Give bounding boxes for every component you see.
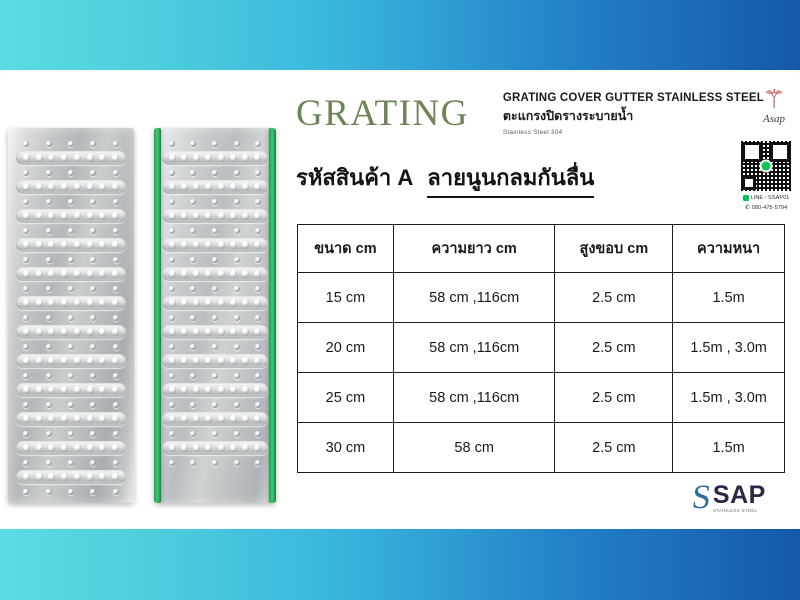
product-photo-group: [8, 128, 290, 513]
table-header-row: ขนาด cm ความยาว cm สูงขอบ cm ความหนา: [298, 225, 785, 273]
table-row: 15 cm 58 cm ,116cm 2.5 cm 1.5m: [298, 273, 785, 323]
product-image-green-frame[interactable]: [154, 128, 276, 503]
cell-size: 25 cm: [298, 373, 394, 423]
phone-contact-row[interactable]: ✆ 080-475-5794: [745, 204, 787, 211]
cell-thickness: 1.5m: [673, 423, 785, 473]
corporate-script-name: Asap: [763, 113, 785, 125]
line-app-icon: [743, 195, 749, 201]
sap-logo-text-group: SAP STAINLESS STEEL: [713, 484, 766, 513]
product-image-plain[interactable]: [8, 128, 134, 503]
qr-contact-block: LINE : SSAP01 ✆ 080-475-5794: [737, 140, 795, 211]
page-header: GRATING GRATING COVER GUTTER STAINLESS S…: [296, 84, 756, 142]
qr-code-icon[interactable]: [740, 140, 792, 192]
table-header-size: ขนาด cm: [298, 225, 394, 273]
sap-footer-logo: S SAP STAINLESS STEEL: [692, 484, 766, 513]
cell-thickness: 1.5m , 3.0m: [673, 373, 785, 423]
cell-thickness: 1.5m , 3.0m: [673, 323, 785, 373]
grating-pattern: [8, 128, 134, 503]
product-code-line: รหัสสินค้า A ลายนูนกลมกันลื่น: [296, 160, 594, 198]
cell-edge-height: 2.5 cm: [555, 423, 673, 473]
table-header-edge-height: สูงขอบ cm: [555, 225, 673, 273]
sap-logo-tagline: STAINLESS STEEL: [713, 508, 766, 513]
cell-edge-height: 2.5 cm: [555, 323, 673, 373]
sap-logo-word: SAP: [713, 484, 766, 508]
qr-finder-bottom-left: [742, 176, 756, 190]
cell-length: 58 cm: [393, 423, 555, 473]
grating-pattern: [154, 128, 276, 503]
header-material-note: Stainless Steel 304: [503, 129, 764, 136]
brand-wordmark: GRATING: [296, 92, 469, 135]
table-row: 25 cm 58 cm ,116cm 2.5 cm 1.5m , 3.0m: [298, 373, 785, 423]
header-text-group: GRATING COVER GUTTER STAINLESS STEEL ตะแ…: [503, 90, 764, 136]
phone-number-text: 080-475-5794: [752, 205, 787, 211]
cell-length: 58 cm ,116cm: [393, 373, 555, 423]
product-code-value: ลายนูนกลมกันลื่น: [427, 160, 594, 198]
line-logo-icon: [760, 160, 773, 173]
corporate-logo: ⚚ Asap: [752, 86, 796, 134]
specification-table: ขนาด cm ความยาว cm สูงขอบ cm ความหนา 15 …: [297, 224, 785, 473]
cell-length: 58 cm ,116cm: [393, 273, 555, 323]
cell-edge-height: 2.5 cm: [555, 373, 673, 423]
table-header-thickness: ความหนา: [673, 225, 785, 273]
cell-edge-height: 2.5 cm: [555, 273, 673, 323]
cell-size: 20 cm: [298, 323, 394, 373]
table-row: 30 cm 58 cm 2.5 cm 1.5m: [298, 423, 785, 473]
table-row: 20 cm 58 cm ,116cm 2.5 cm 1.5m , 3.0m: [298, 323, 785, 373]
header-title-th: ตะแกรงปิดรางระบายน้ำ: [503, 106, 764, 126]
line-id-text: LINE : SSAP01: [751, 195, 790, 201]
phone-icon: ✆: [745, 204, 750, 211]
cell-size: 15 cm: [298, 273, 394, 323]
grating-plate-green-frame: [154, 128, 276, 503]
line-contact-row[interactable]: LINE : SSAP01: [743, 195, 790, 201]
table-header-length: ความยาว cm: [393, 225, 555, 273]
grating-plate-plain: [8, 128, 134, 503]
header-title-en: GRATING COVER GUTTER STAINLESS STEEL: [503, 92, 764, 104]
cell-length: 58 cm ,116cm: [393, 323, 555, 373]
cell-size: 30 cm: [298, 423, 394, 473]
product-code-label: รหัสสินค้า A: [296, 160, 413, 195]
cell-thickness: 1.5m: [673, 273, 785, 323]
corporate-emblem-icon: ⚚: [762, 86, 785, 112]
sap-swoosh-icon: S: [690, 484, 712, 513]
